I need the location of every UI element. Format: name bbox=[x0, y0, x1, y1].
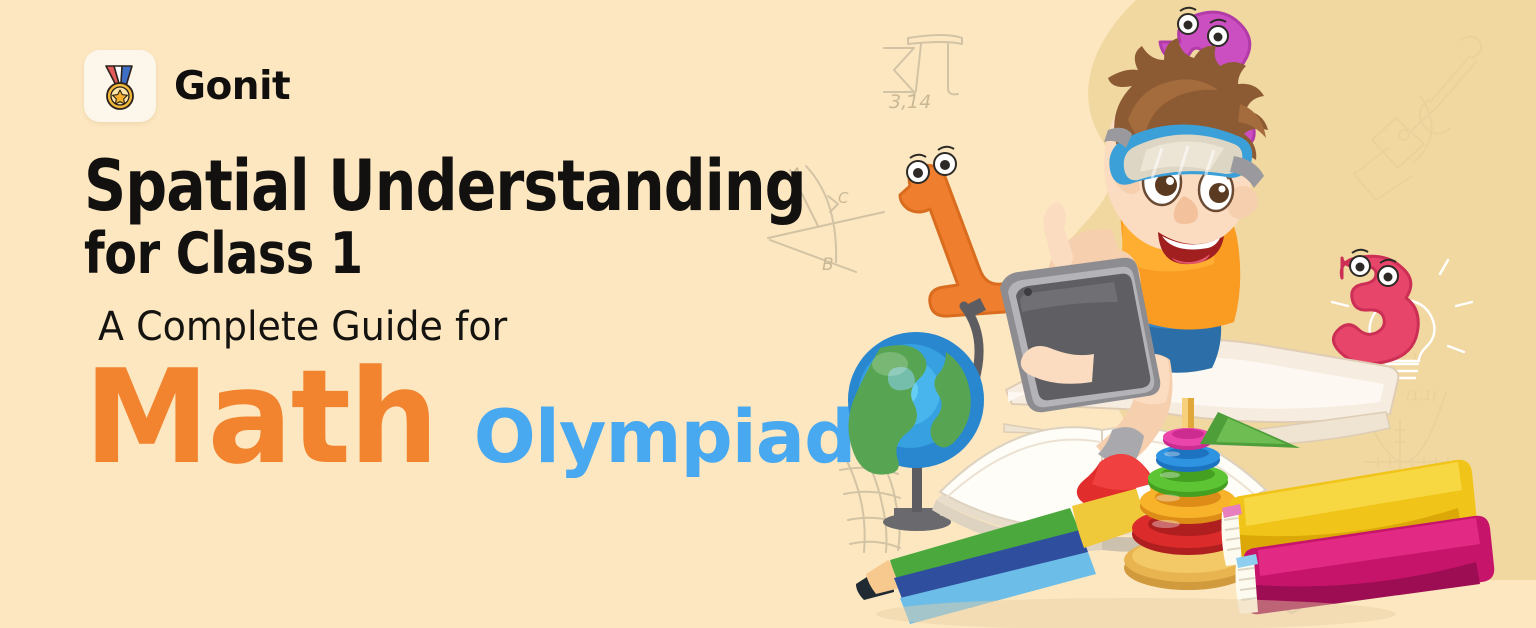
big-title-olympiad: Olympiad bbox=[474, 401, 856, 474]
logo-badge bbox=[84, 50, 156, 122]
brand-logo[interactable]: Gonit bbox=[84, 50, 290, 122]
page-title: Spatial Understanding bbox=[84, 152, 856, 221]
headline-block: Spatial Understanding for Class 1 A Comp… bbox=[84, 152, 914, 482]
math-olympiad-banner: 3,14 A B C (1,1) √3×9 (2,1) Gonit bbox=[0, 0, 1536, 628]
page-subtitle: for Class 1 bbox=[84, 221, 856, 288]
brand-name: Gonit bbox=[174, 64, 290, 109]
illustration-boy-with-tablet bbox=[836, 0, 1536, 628]
big-title-row: Math Olympiad bbox=[84, 352, 914, 482]
medal-icon bbox=[92, 58, 148, 114]
big-title-math: Math bbox=[84, 352, 437, 482]
floating-number-1 bbox=[900, 147, 1018, 316]
